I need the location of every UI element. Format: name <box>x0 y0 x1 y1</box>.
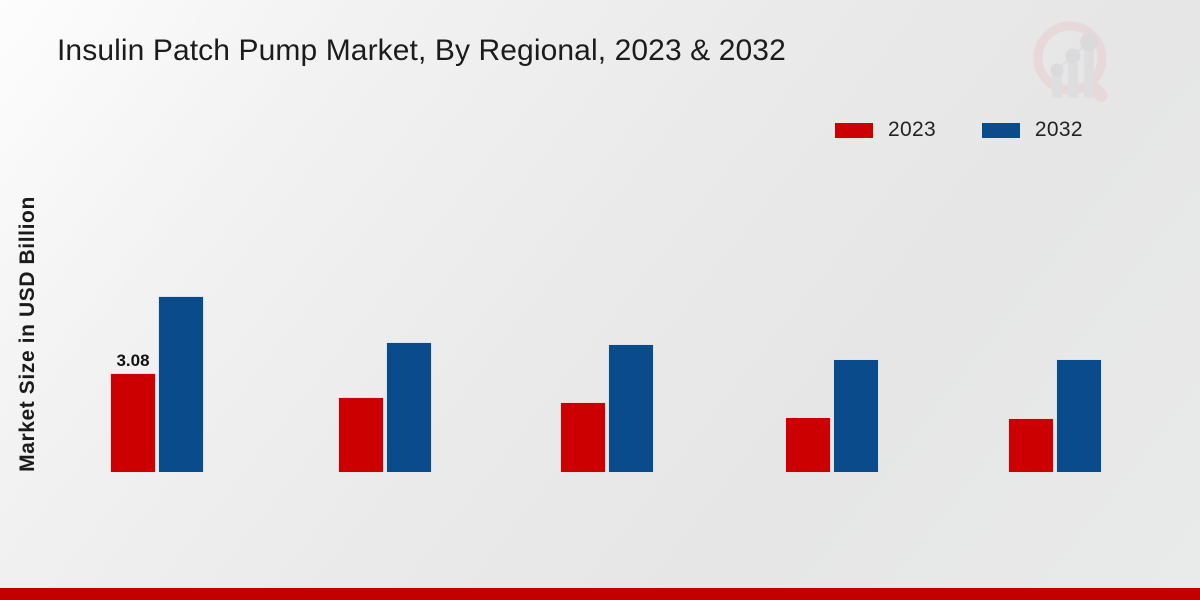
page-title: Insulin Patch Pump Market, By Regional, … <box>57 34 786 68</box>
bar-2023-asia-pacific[interactable] <box>785 417 831 472</box>
legend-item-2032[interactable]: 2032 <box>982 118 1083 142</box>
bar-group-europe <box>338 150 432 472</box>
y-axis-label: Market Size in USD Billion <box>16 154 40 514</box>
bar-group-south-america <box>560 150 654 472</box>
bar-2032-middle-east-and-africa[interactable] <box>1056 359 1102 472</box>
bar-2023-south-america[interactable] <box>560 402 606 472</box>
bar-2032-north-america[interactable] <box>158 296 204 472</box>
bar-2023-north-america[interactable]: 3.08 <box>110 373 156 472</box>
legend-label-2032: 2032 <box>1035 118 1083 142</box>
legend-swatch-2023 <box>835 123 873 138</box>
bar-2032-south-america[interactable] <box>608 344 654 472</box>
plot-area: 3.08 NORTH <box>40 150 1190 472</box>
legend-swatch-2032 <box>982 123 1020 138</box>
bottom-accent-bar <box>0 588 1200 600</box>
bar-group-asia-pacific <box>785 150 879 472</box>
bar-2023-europe[interactable] <box>338 397 384 472</box>
bar-2032-asia-pacific[interactable] <box>833 359 879 472</box>
chart-legend: 2023 2032 <box>835 118 1083 142</box>
bar-group-middle-east-and-africa <box>1008 150 1102 472</box>
bar-2023-middle-east-and-africa[interactable] <box>1008 418 1054 472</box>
bar-2032-europe[interactable] <box>386 342 432 472</box>
chart-canvas: Insulin Patch Pump Market, By Regional, … <box>0 0 1200 600</box>
watermark-logo-icon <box>1028 16 1124 112</box>
bar-value-label: 3.08 <box>116 351 149 371</box>
bar-group-north-america: 3.08 <box>110 150 204 472</box>
legend-item-2023[interactable]: 2023 <box>835 118 936 142</box>
legend-label-2023: 2023 <box>888 118 936 142</box>
